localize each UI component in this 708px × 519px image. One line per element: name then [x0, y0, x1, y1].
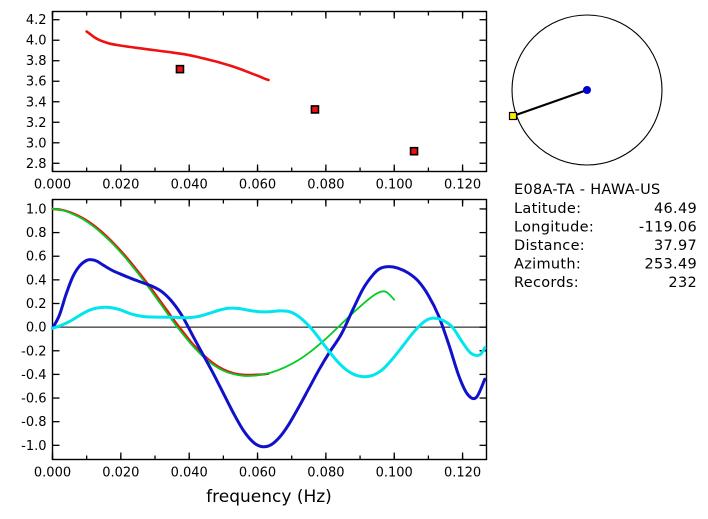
figure-background [0, 0, 708, 519]
station-marker-dot [583, 86, 591, 94]
info-label-records: Records: [514, 275, 579, 291]
ytick-label: -0.8 [21, 415, 46, 430]
xtick-label: 0.060 [239, 466, 276, 481]
ytick-label: -0.6 [21, 392, 46, 407]
figure-root: 0.0000.0200.0400.0600.0800.1000.120 2.83… [0, 0, 708, 519]
ytick-label: 0.2 [26, 297, 47, 312]
info-label-latitude: Latitude: [514, 201, 581, 217]
data-point-marker [311, 106, 318, 113]
info-value-records: 232 [668, 275, 697, 291]
ytick-label: 0.8 [26, 226, 47, 241]
xtick-label: 0.120 [444, 466, 481, 481]
ytick-label: 0.0 [26, 321, 47, 336]
ytick-label: 2.8 [26, 157, 47, 172]
xtick-label: 0.000 [34, 466, 71, 481]
ytick-label: 3.2 [26, 116, 47, 131]
xtick-label: 0.020 [102, 178, 139, 193]
bottom-chart-ytick-labels: -1.0-0.8-0.6-0.4-0.20.00.20.40.60.81.0 [21, 202, 46, 453]
ytick-label: 0.4 [26, 273, 47, 288]
xtick-label: 0.080 [307, 466, 344, 481]
ytick-label: -1.0 [21, 439, 46, 454]
info-value-azimuth: 253.49 [644, 257, 697, 273]
event-marker-square [510, 113, 517, 120]
info-value-distance: 37.97 [654, 238, 697, 254]
xtick-label: 0.100 [376, 178, 413, 193]
xtick-label: 0.020 [102, 466, 139, 481]
info-label-azimuth: Azimuth: [514, 257, 581, 273]
ytick-label: 4.0 [26, 34, 47, 49]
ytick-label: 3.6 [26, 75, 47, 90]
x-axis-title: frequency (Hz) [206, 487, 332, 507]
xtick-label: 0.080 [307, 178, 344, 193]
xtick-label: 0.040 [171, 466, 208, 481]
xtick-label: 0.040 [171, 178, 208, 193]
xtick-label: 0.000 [34, 178, 71, 193]
info-label-longitude: Longitude: [514, 220, 594, 236]
xtick-label: 0.060 [239, 178, 276, 193]
ytick-label: 3.4 [26, 95, 47, 110]
ytick-label: -0.2 [21, 344, 46, 359]
info-value-latitude: 46.49 [654, 201, 697, 217]
data-point-marker [411, 148, 418, 155]
ytick-label: -0.4 [21, 368, 46, 383]
xtick-label: 0.100 [376, 466, 413, 481]
data-point-marker [176, 66, 183, 73]
ytick-label: 4.2 [26, 13, 47, 28]
xtick-label: 0.120 [444, 178, 481, 193]
info-label-distance: Distance: [514, 238, 585, 254]
info-value-longitude: -119.06 [639, 220, 697, 236]
ytick-label: 3.8 [26, 54, 47, 69]
seismic-figure: 0.0000.0200.0400.0600.0800.1000.120 2.83… [0, 0, 708, 519]
ytick-label: 1.0 [26, 202, 47, 217]
ytick-label: 3.0 [26, 136, 47, 151]
station-pair-title: E08A-TA - HAWA-US [514, 182, 661, 198]
ytick-label: 0.6 [26, 250, 47, 265]
